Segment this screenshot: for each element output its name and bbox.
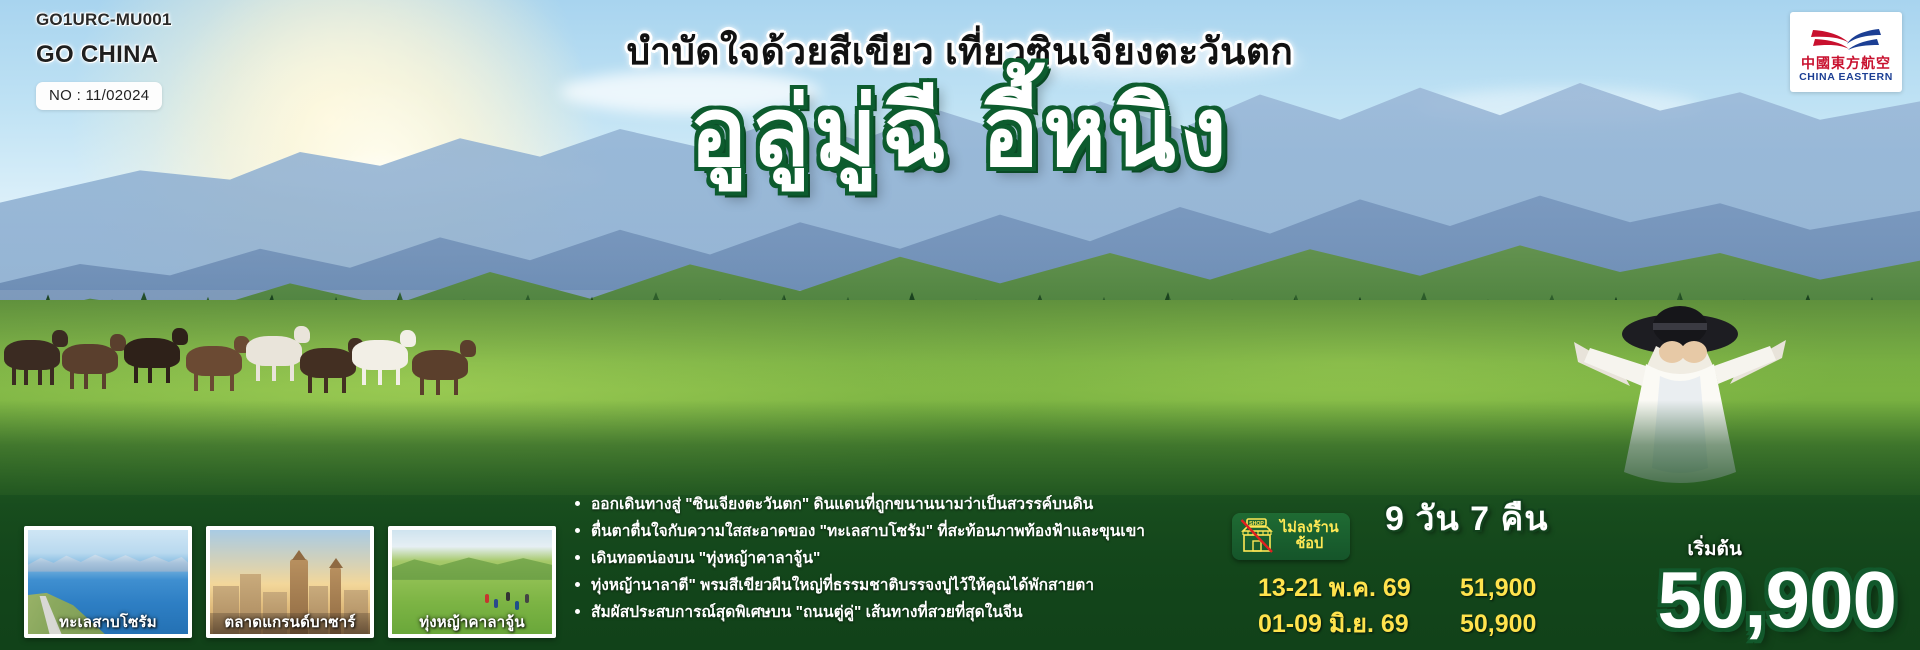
- thumbnail-strip: ทะเลสาบโซรัม ตลาดแกรนด์บาซาร์: [24, 526, 556, 638]
- bullet-dot-icon: [575, 528, 580, 533]
- bullet-dot-icon: [575, 501, 580, 506]
- horse: [186, 346, 242, 376]
- svg-text:SHOP: SHOP: [1249, 521, 1264, 527]
- no-shop-badge: SHOP ไม่ลงร้าน ช้อป: [1232, 513, 1350, 560]
- horse: [124, 338, 180, 368]
- price-block: เริ่มต้น 50,900: [1657, 534, 1896, 642]
- shop-crossed-out-icon: SHOP: [1240, 518, 1274, 554]
- bullet-dot-icon: [575, 609, 580, 614]
- horse-herd: [0, 318, 560, 403]
- departure-date: 13-21 พ.ค. 69: [1258, 570, 1446, 606]
- bullet-dot-icon: [575, 582, 580, 587]
- trip-duration: 9 วัน 7 คืน: [1385, 491, 1548, 545]
- list-item: ออกเดินทางสู่ "ซินเจียงตะวันตก" ดินแดนที…: [575, 493, 1145, 517]
- headline-title: อูลู่มู่ฉี อี้หนิง: [0, 83, 1920, 184]
- product-code-block: GO1URC-MU001 GO CHINA NO : 11/02024: [36, 10, 172, 110]
- travel-poster: GO1URC-MU001 GO CHINA NO : 11/02024 中國東方…: [0, 0, 1920, 650]
- brand-name: GO CHINA: [36, 41, 172, 69]
- departure-row: 13-21 พ.ค. 69 51,900: [1258, 570, 1536, 606]
- highlights-list: ออกเดินทางสู่ "ซินเจียงตะวันตก" ดินแดนที…: [575, 493, 1145, 628]
- price-value: 50,900: [1657, 558, 1896, 642]
- horse: [62, 344, 118, 374]
- thumbnail-card[interactable]: ทะเลสาบโซรัม: [24, 526, 192, 638]
- thumbnail-caption: ทุ่งหญ้าคาลาจู้น: [392, 610, 552, 634]
- horse: [300, 348, 356, 378]
- document-number-badge: NO : 11/02024: [36, 82, 162, 110]
- product-code: GO1URC-MU001: [36, 10, 172, 30]
- thumbnail-caption: ตลาดแกรนด์บาซาร์: [210, 610, 370, 634]
- horse: [246, 336, 302, 366]
- list-item: ทุ่งหญ้านาลาตี" พรมสีเขียวผืนใหญ่ที่ธรรม…: [575, 574, 1145, 598]
- list-item: สัมผัสประสบการณ์สุดพิเศษบน "ถนนตู่คู่" เ…: [575, 601, 1145, 625]
- horse: [352, 340, 408, 370]
- thumbnail-card[interactable]: ตลาดแกรนด์บาซาร์: [206, 526, 374, 638]
- no-shop-label: ไม่ลงร้าน ช้อป: [1280, 520, 1339, 552]
- airline-logo: 中國東方航空 CHINA EASTERN: [1790, 12, 1902, 92]
- no-shop-line1: ไม่ลงร้าน: [1280, 520, 1339, 536]
- list-item: เดินทอดน่องบน "ทุ่งหญ้าคาลาจู้น": [575, 547, 1145, 571]
- thumbnail-card[interactable]: ทุ่งหญ้าคาลาจู้น: [388, 526, 556, 638]
- thumbnail-caption: ทะเลสาบโซรัม: [28, 610, 188, 634]
- airline-name-cn: 中國東方航空: [1801, 56, 1891, 70]
- airline-name-en: CHINA EASTERN: [1799, 72, 1893, 83]
- departure-price: 50,900: [1460, 606, 1536, 642]
- horse: [412, 350, 468, 380]
- highlight-text: ทุ่งหญ้านาลาตี" พรมสีเขียวผืนใหญ่ที่ธรรม…: [591, 574, 1094, 598]
- departure-date: 01-09 มิ.ย. 69: [1258, 606, 1446, 642]
- bullet-dot-icon: [575, 555, 580, 560]
- highlight-text: ออกเดินทางสู่ "ซินเจียงตะวันตก" ดินแดนที…: [591, 493, 1093, 517]
- departure-list: 13-21 พ.ค. 69 51,900 01-09 มิ.ย. 69 50,9…: [1258, 570, 1536, 643]
- list-item: ตื่นตาตื่นใจกับความใสสะอาดของ "ทะเลสาบโซ…: [575, 520, 1145, 544]
- highlight-text: สัมผัสประสบการณ์สุดพิเศษบน "ถนนตู่คู่" เ…: [591, 601, 1023, 625]
- highlight-text: ตื่นตาตื่นใจกับความใสสะอาดของ "ทะเลสาบโซ…: [591, 520, 1145, 544]
- china-eastern-swallow-icon: [1809, 25, 1883, 55]
- highlight-text: เดินทอดน่องบน "ทุ่งหญ้าคาลาจู้น": [591, 547, 820, 571]
- departure-row: 01-09 มิ.ย. 69 50,900: [1258, 606, 1536, 642]
- departure-price: 51,900: [1460, 570, 1536, 606]
- horse: [4, 340, 60, 370]
- headline-subtitle: บำบัดใจด้วยสีเขียว เที่ยวซินเจียงตะวันตก: [0, 22, 1920, 81]
- no-shop-line2: ช้อป: [1280, 536, 1339, 552]
